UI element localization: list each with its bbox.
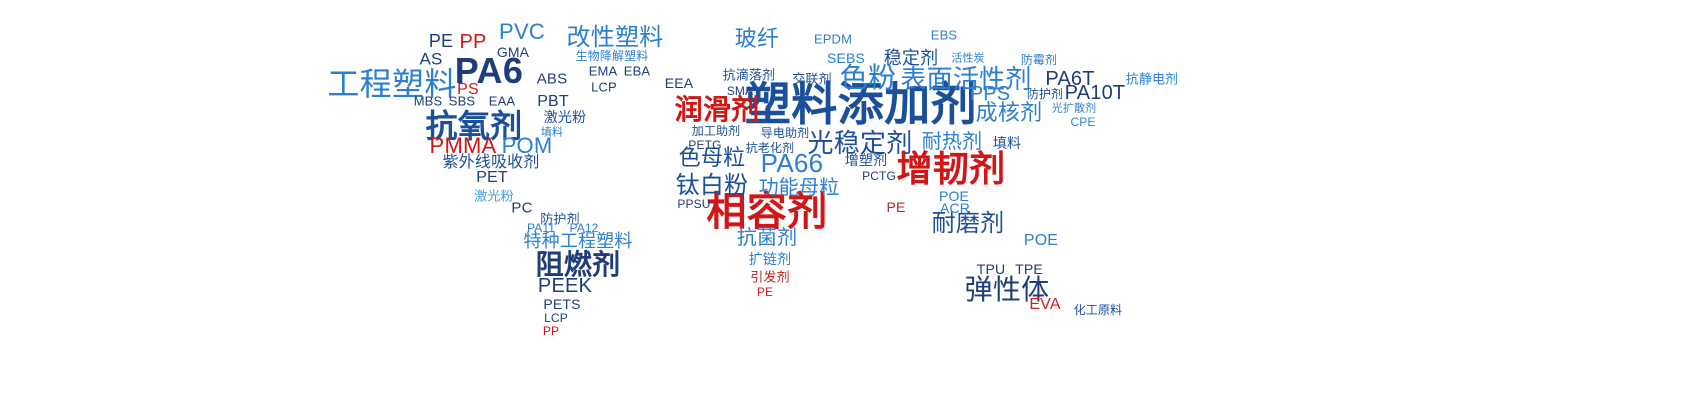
word-cloud-term[interactable]: PPSU: [677, 198, 710, 210]
word-cloud-term[interactable]: 防霉剂: [1021, 54, 1057, 66]
word-cloud-term[interactable]: POE: [1024, 233, 1058, 249]
word-cloud-term[interactable]: GMA: [497, 45, 529, 59]
word-cloud-term[interactable]: 润滑剂: [675, 96, 760, 124]
word-cloud-term[interactable]: 抗老化剂: [746, 142, 794, 154]
word-cloud-term[interactable]: 玻纤: [735, 28, 779, 50]
word-cloud-term[interactable]: PEEK: [538, 276, 592, 296]
word-cloud-term[interactable]: 交联剂: [792, 73, 831, 86]
word-cloud-term[interactable]: PE: [757, 286, 773, 298]
word-cloud-term[interactable]: PET: [476, 170, 508, 186]
word-cloud-term[interactable]: 功能母粒: [759, 178, 840, 198]
word-cloud-term[interactable]: 增韧剂: [896, 151, 1005, 187]
word-cloud-term[interactable]: 表面活性剂: [900, 66, 1031, 92]
word-cloud-term[interactable]: 稳定剂: [884, 49, 939, 67]
word-cloud-term[interactable]: PA12: [570, 222, 599, 234]
word-cloud-term[interactable]: PCTG: [862, 170, 896, 182]
word-cloud-term[interactable]: PA10T: [1065, 83, 1126, 103]
word-cloud-canvas: 塑料添加剂相容剂增韧剂工程塑料抗氧剂PA6阻燃剂润滑剂色粉表面活性剂光稳定剂弹性…: [0, 0, 1707, 400]
word-cloud-term[interactable]: 填料: [541, 128, 563, 139]
word-cloud-term[interactable]: EBS: [931, 29, 957, 42]
word-cloud-term[interactable]: PP: [543, 325, 559, 337]
word-cloud-term[interactable]: PETG: [688, 139, 721, 151]
word-cloud-term[interactable]: EMA: [589, 65, 618, 78]
word-cloud-term[interactable]: 引发剂: [750, 271, 789, 284]
word-cloud-term[interactable]: 扩链剂: [749, 252, 791, 266]
word-cloud-term[interactable]: 激光粉: [474, 190, 513, 203]
word-cloud-term[interactable]: EBA: [624, 65, 650, 78]
word-cloud-term[interactable]: 抗静电剂: [1126, 73, 1179, 86]
word-cloud-term[interactable]: CPE: [1070, 116, 1095, 128]
word-cloud-term[interactable]: 增塑剂: [845, 153, 887, 167]
word-cloud-term[interactable]: 活性炭: [951, 54, 984, 65]
word-cloud-term[interactable]: PMMA: [430, 135, 497, 157]
word-cloud-term[interactable]: ACR: [940, 201, 970, 215]
word-cloud-term[interactable]: PA11: [527, 222, 555, 234]
word-cloud-term[interactable]: PP: [459, 32, 486, 52]
word-cloud-term[interactable]: 防护剂: [1027, 88, 1063, 100]
word-cloud-term[interactable]: MBS: [414, 95, 443, 108]
word-cloud-term[interactable]: PBT: [537, 94, 569, 110]
word-cloud-term[interactable]: 加工助剂: [692, 125, 740, 137]
word-cloud-term[interactable]: PE: [887, 200, 906, 214]
word-cloud-term[interactable]: 填料: [993, 136, 1021, 150]
word-cloud-term[interactable]: 生物降解塑料: [576, 50, 649, 62]
word-cloud-term[interactable]: EEA: [665, 76, 693, 90]
word-cloud-term[interactable]: EVA: [1029, 297, 1060, 313]
word-cloud-term[interactable]: PC: [511, 201, 532, 216]
word-cloud-term[interactable]: EAA: [489, 95, 515, 108]
word-cloud-term[interactable]: LCP: [591, 81, 617, 94]
word-cloud-term[interactable]: ABS: [537, 72, 567, 87]
word-cloud-term[interactable]: TPE: [1015, 262, 1043, 276]
word-cloud-term[interactable]: PVC: [499, 21, 545, 43]
word-cloud-term[interactable]: LCP: [544, 312, 568, 324]
word-cloud-term[interactable]: 改性塑料: [567, 26, 664, 50]
word-cloud-term[interactable]: PETS: [543, 297, 580, 311]
word-cloud-term[interactable]: SMA: [727, 85, 753, 97]
word-cloud-term[interactable]: SEBS: [827, 51, 865, 65]
word-cloud-term[interactable]: 色粉: [840, 64, 897, 92]
word-cloud-term[interactable]: 抗滴落剂: [723, 69, 776, 82]
word-cloud-term[interactable]: PE: [429, 32, 453, 50]
word-cloud-term[interactable]: 化工原料: [1074, 304, 1122, 316]
word-cloud-term[interactable]: 钛白粉: [676, 174, 749, 198]
word-cloud-term[interactable]: SBS: [449, 95, 475, 108]
word-cloud-term[interactable]: EPDM: [814, 33, 852, 46]
word-cloud-term[interactable]: 耐热剂: [922, 132, 983, 152]
word-cloud-term[interactable]: 抗菌剂: [737, 228, 798, 248]
word-cloud-term[interactable]: TPU: [977, 262, 1005, 276]
word-cloud-term[interactable]: 激光粉: [544, 110, 586, 124]
word-cloud-term[interactable]: AS: [419, 51, 442, 68]
word-cloud-term[interactable]: 导电助剂: [761, 127, 809, 139]
word-cloud-term[interactable]: 成核剂: [976, 102, 1043, 124]
word-cloud-term[interactable]: 光扩散剂: [1052, 104, 1096, 115]
word-cloud-term[interactable]: PPS: [970, 84, 1011, 104]
